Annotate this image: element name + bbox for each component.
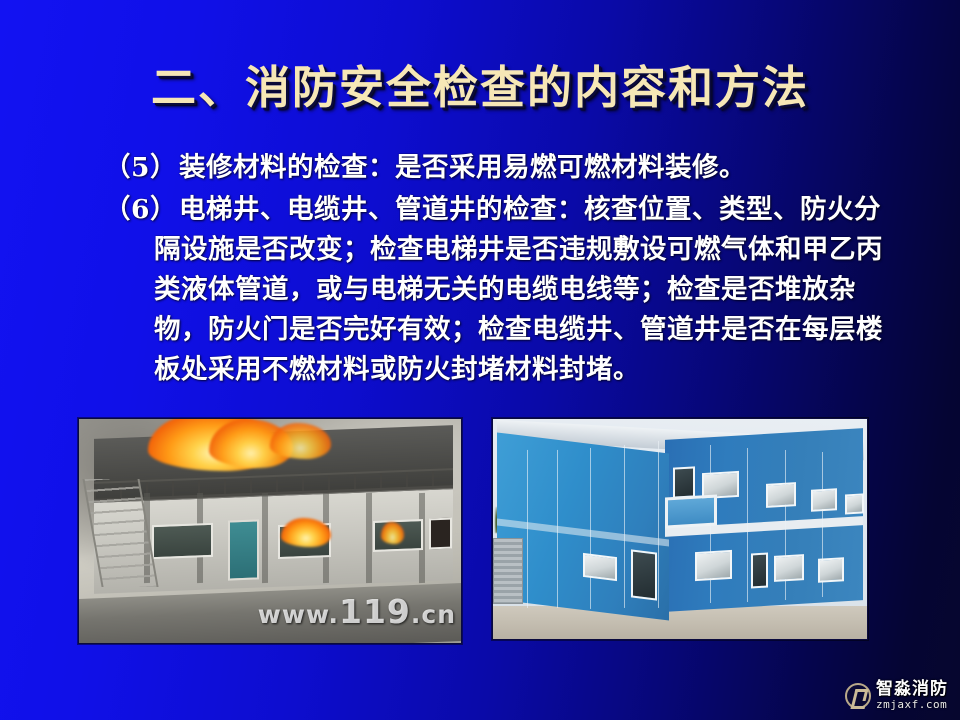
upper-floor-balcony [665, 494, 717, 528]
watermark-suffix: .cn [411, 600, 456, 629]
panel-seam [658, 441, 659, 608]
flame-in-window [381, 522, 404, 544]
bullet-text-6: 电梯井、电缆井、管道井的检查：核查位置、类型、防火分隔设施是否改变；检查电梯井是… [154, 194, 883, 385]
ground-floor-door [751, 553, 768, 589]
facade-column [366, 493, 372, 583]
storage-container [493, 538, 523, 604]
photo-right-artwork [493, 419, 867, 639]
brand-logo-icon [845, 683, 871, 709]
foreground-ground [493, 606, 867, 639]
brand-watermark-text: 智淼消防 zmjaxf.com [876, 681, 948, 710]
photo-watermark-119: www.119.cn [258, 592, 456, 631]
bullet-paragraph-5: （5）装修材料的检查：是否采用易燃可燃材料装修。 [104, 148, 894, 188]
flame-roof-small [270, 423, 331, 459]
bullet-text-5: 装修材料的检查：是否采用易燃可燃材料装修。 [179, 152, 746, 183]
brand-name: 智淼消防 [876, 681, 948, 698]
ground-floor-window [695, 550, 732, 581]
facade-column [262, 493, 268, 583]
ground-floor-window [583, 553, 617, 581]
body-text-block: （5）装修材料的检查：是否采用易燃可燃材料装修。 （6）电梯井、电缆井、管道井的… [104, 148, 894, 392]
ground-floor-window [774, 555, 804, 583]
watermark-number: 119 [339, 592, 411, 631]
watermark-prefix: www. [258, 600, 339, 629]
brand-watermark: 智淼消防 zmjaxf.com [841, 679, 952, 712]
brand-url-text: zmjaxf.com [876, 699, 948, 710]
bullet-marker-6: （6） [104, 194, 177, 225]
panel-seam [527, 450, 528, 609]
page-title: 二、消防安全检查的内容和方法 [151, 62, 809, 114]
photo-burning-prefab-building: www.119.cn [78, 418, 462, 644]
ground-floor-door [631, 549, 657, 601]
title-bar: 二、消防安全检查的内容和方法 [0, 62, 960, 114]
photo-left-artwork: www.119.cn [79, 419, 461, 643]
ground-floor-door [228, 519, 259, 581]
upper-floor-window [766, 482, 796, 508]
upper-floor-doorway [673, 467, 695, 499]
panel-seam [624, 445, 625, 608]
ground-floor-window [152, 523, 213, 559]
slide-canvas: 二、消防安全检查的内容和方法 （5）装修材料的检查：是否采用易燃可燃材料装修。 … [0, 0, 960, 720]
upper-floor-window [811, 489, 837, 513]
upper-floor-window [845, 493, 864, 514]
photo-blue-prefab-dormitory [492, 418, 868, 640]
ground-floor-window [818, 557, 844, 583]
ground-floor-opening [429, 517, 452, 549]
bullet-marker-5: （5） [104, 152, 177, 183]
panel-seam [557, 450, 558, 609]
bullet-paragraph-6: （6）电梯井、电缆井、管道井的检查：核查位置、类型、防火分隔设施是否改变；检查电… [104, 190, 894, 390]
